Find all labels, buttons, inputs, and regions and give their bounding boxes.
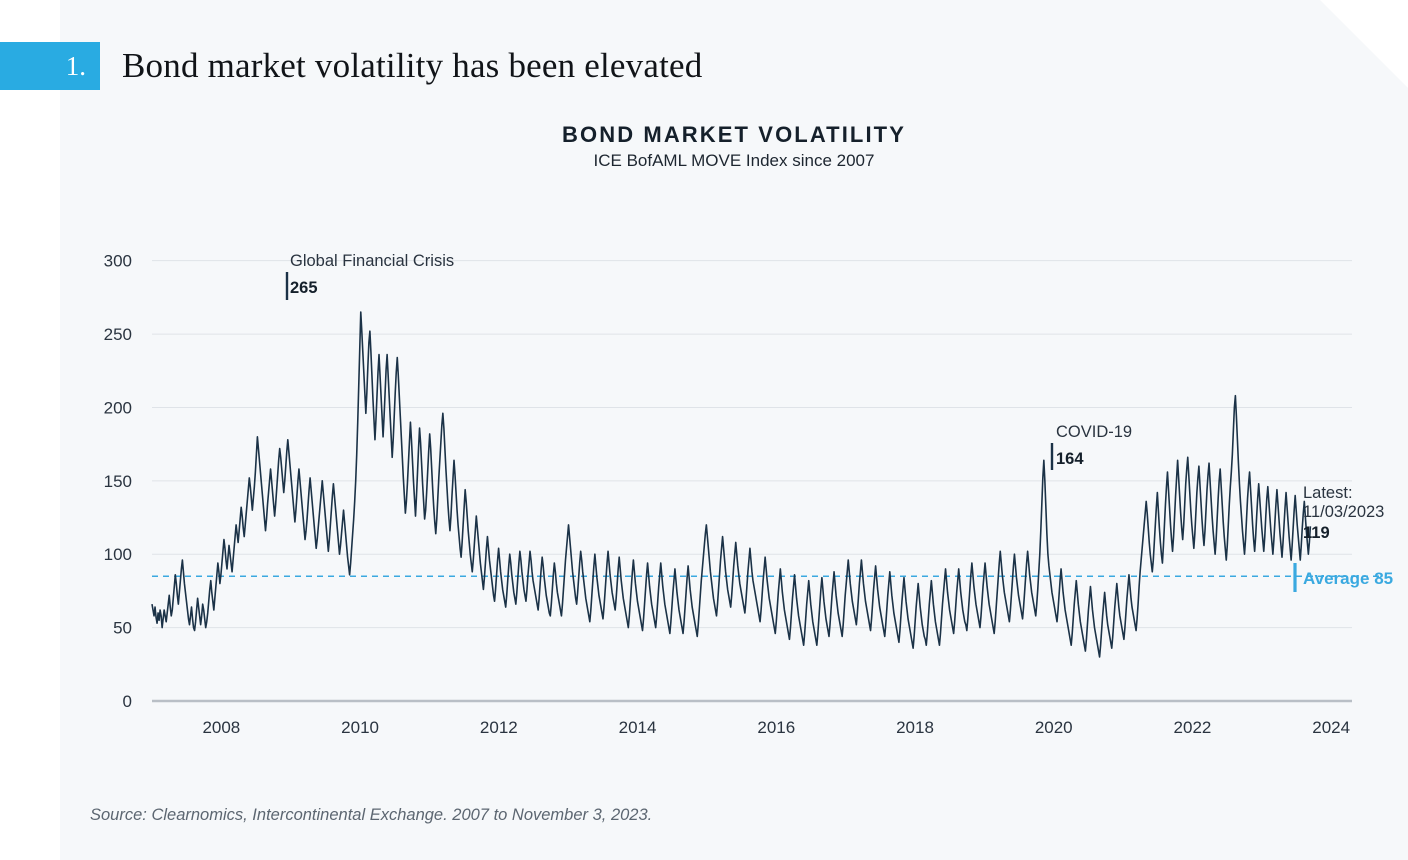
slide-header: 1. Bond market volatility has been eleva…: [0, 40, 702, 92]
slide-number-badge: 1.: [0, 42, 100, 90]
slide-page: 1. Bond market volatility has been eleva…: [0, 0, 1408, 860]
page-title: Bond market volatility has been elevated: [122, 46, 702, 86]
chart-subtitle: ICE BofAML MOVE Index since 2007: [60, 151, 1408, 171]
chart-title: BOND MARKET VOLATILITY: [60, 122, 1408, 148]
source-note: Source: Clearnomics, Intercontinental Ex…: [90, 806, 652, 825]
